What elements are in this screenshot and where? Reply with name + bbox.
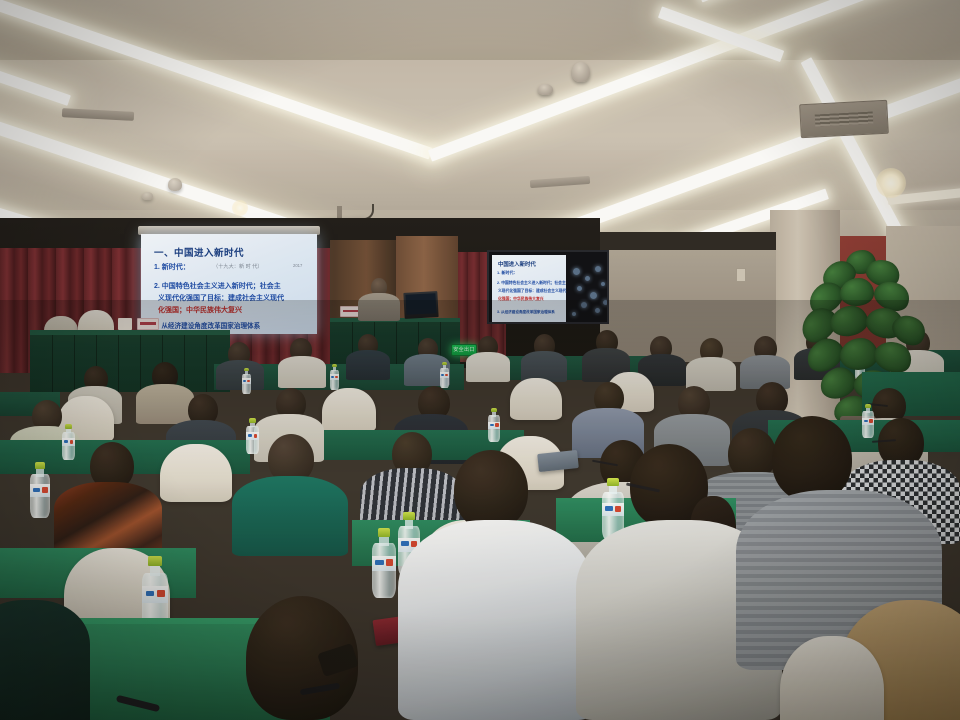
water-bottle	[246, 418, 259, 454]
linear-light-fixture	[62, 108, 134, 121]
audience-member	[278, 356, 326, 388]
hvac-vent	[799, 100, 889, 139]
head-table-edge	[30, 330, 230, 335]
wall-outlet-plate	[736, 268, 746, 282]
notebook	[537, 450, 579, 472]
slide-line-1-note: （十九大：新 时 代）	[213, 263, 263, 270]
water-bottle	[862, 404, 874, 438]
audience-member	[398, 520, 594, 720]
recessed-downlight	[876, 168, 906, 198]
head-table-placard	[118, 318, 132, 330]
recessed-downlight	[232, 200, 248, 216]
right-wall-upper	[600, 232, 776, 362]
right-tv-display: 中国进入新时代 1. 新时代： 2. 中国特色社会主义进入新时代；社会主 义现代…	[487, 250, 609, 324]
name-placard	[137, 318, 159, 330]
audience-member	[136, 384, 194, 424]
tv-decor-dot	[590, 292, 597, 299]
tv-decor-dot	[581, 302, 587, 308]
tv-slide-line-5: 3. 从经济建设角度改革国家治理体系	[497, 310, 555, 315]
water-bottle	[330, 364, 339, 390]
exit-sign-label: 安全出口	[453, 348, 475, 353]
tv-slide-title: 中国进入新时代	[498, 260, 536, 268]
smoke-detector	[142, 192, 153, 200]
water-bottle	[372, 528, 396, 598]
conference-room-photo: 一、中国进入新时代 1. 新时代： （十九大：新 时 代） 2017 2. 中国…	[0, 0, 960, 720]
water-bottle	[30, 462, 50, 518]
water-bottle	[62, 424, 75, 460]
tv-slide-line-1: 1. 新时代：	[497, 270, 517, 276]
audience-member	[216, 360, 264, 390]
left-projection-screen: 一、中国进入新时代 1. 新时代： （十九大：新 时 代） 2017 2. 中国…	[141, 234, 317, 334]
tv-decor-dot	[595, 266, 601, 272]
chair-back	[322, 388, 376, 432]
audience-member	[0, 600, 90, 720]
laptop	[403, 291, 438, 319]
tv-decor-dot	[603, 300, 608, 305]
tv-decor-dot	[573, 268, 580, 275]
tv-slide-surface: 中国进入新时代 1. 新时代： 2. 中国特色社会主义进入新时代；社会主 义现代…	[492, 255, 566, 323]
speaker-body	[358, 293, 400, 321]
audience-member	[466, 352, 510, 382]
tv-slide-line-4: 化强国；中华民族伟大复兴	[498, 297, 544, 302]
tv-decor-dot	[577, 286, 582, 291]
slide-line-3: 义现代化强国了目标：建成社会主义现代	[158, 293, 284, 303]
slide-line-2: 2. 中国特色社会主义进入新时代；社会主	[154, 281, 281, 291]
water-bottle	[242, 368, 251, 394]
tv-slide-line-3: 义现代化强国了目标：建成社会主义现代	[498, 289, 566, 294]
slide-surface: 一、中国进入新时代 1. 新时代： （十九大：新 时 代） 2017 2. 中国…	[141, 234, 317, 334]
head-table	[30, 330, 230, 392]
water-bottle	[488, 408, 500, 442]
slide-title: 一、中国进入新时代	[154, 245, 244, 259]
slide-line-1: 1. 新时代：	[154, 262, 190, 272]
tv-decor-dot	[601, 282, 605, 286]
smoke-detector	[168, 178, 182, 191]
smoke-detector	[538, 84, 553, 95]
tv-decor-dot	[595, 308, 600, 313]
tv-decor-dot	[572, 312, 576, 316]
right-wall-dark-band	[600, 232, 776, 250]
audience-member	[521, 351, 567, 382]
slide-small-note: 2017	[293, 263, 302, 268]
water-bottle	[440, 362, 449, 388]
audience-member	[454, 450, 528, 530]
slide-line-4: 化强国；中华民族伟大复兴	[158, 305, 242, 315]
chair-back	[510, 378, 562, 420]
tv-decor-dot	[585, 276, 590, 281]
audience-member	[232, 476, 348, 556]
smoke-detector	[572, 62, 590, 82]
slide-line-5: 3. 从经济建设角度改革国家治理体系	[154, 320, 260, 330]
tv-slide-line-2: 2. 中国特色社会主义进入新时代；社会主	[497, 281, 566, 286]
chair-back	[160, 444, 232, 502]
audience-member	[346, 350, 390, 380]
